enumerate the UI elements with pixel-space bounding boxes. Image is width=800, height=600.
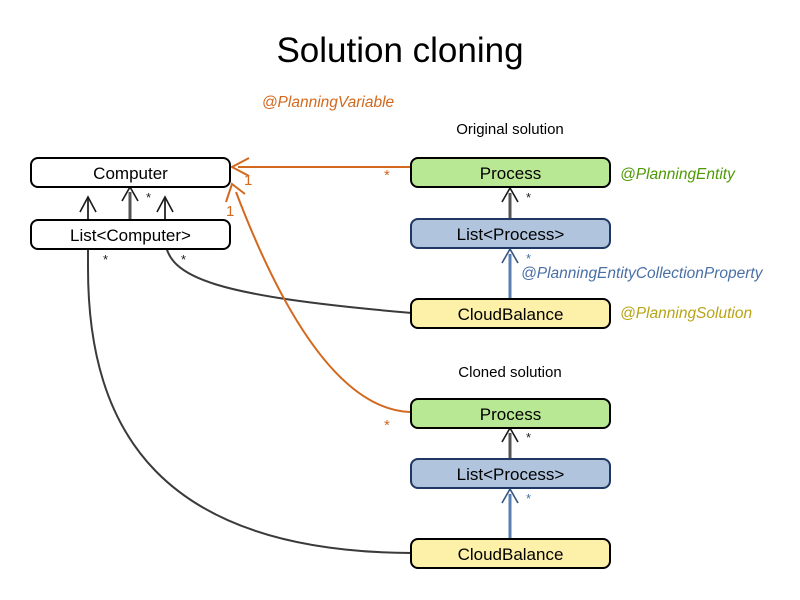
annotation-planning-entity-collection-property: @PlanningEntityCollectionProperty [521,265,764,282]
solution-cloning-diagram: Solution cloning @PlanningVariable Origi… [0,0,800,600]
node-cloned-process[interactable]: Process [411,399,610,428]
multiplicity-original-list-from-cloudbalance: * [526,251,531,266]
connector-cloned-cloudbalance-to-list-process [502,489,518,539]
node-list-computer-label: List<Computer> [70,226,191,245]
node-list-computer[interactable]: List<Computer> [31,220,230,249]
node-original-cloudbalance[interactable]: CloudBalance [411,299,610,328]
page-title: Solution cloning [276,31,523,70]
multiplicity-computer-from-list: * [146,190,151,205]
multiplicity-cloned-process-from-list: * [526,430,531,445]
annotation-planning-entity: @PlanningEntity [620,166,736,183]
multiplicity-list-computer-left: * [103,252,108,267]
connector-cloned-list-process-to-process [502,428,518,459]
connector-cloned-cloudbalance-to-list-computer [80,197,412,553]
node-computer[interactable]: Computer [31,158,230,187]
diagram-canvas: Solution cloning @PlanningVariable Origi… [0,0,800,600]
node-original-cloudbalance-label: CloudBalance [458,305,564,324]
node-original-process-label: Process [480,164,541,183]
connector-original-cloudbalance-to-list-process [502,249,518,299]
multiplicity-computer-one-top: 1 [244,172,252,189]
multiplicity-cloned-list-from-cloudbalance: * [526,491,531,506]
node-computer-label: Computer [93,164,168,183]
section-label-cloned: Cloned solution [458,364,561,381]
connector-line [88,198,412,553]
multiplicity-computer-one-bottom: 1 [226,203,234,220]
connector-line [165,198,412,313]
node-cloned-list-process-label: List<Process> [457,465,565,484]
connector-line [236,192,410,412]
multiplicity-cloned-process-to-computer: * [384,417,390,434]
connector-list-computer-to-computer [122,187,138,220]
node-cloned-cloudbalance[interactable]: CloudBalance [411,539,610,568]
node-original-process[interactable]: Process [411,158,610,187]
node-cloned-list-process[interactable]: List<Process> [411,459,610,488]
node-original-list-process[interactable]: List<Process> [411,219,610,248]
node-original-list-process-label: List<Process> [457,225,565,244]
annotation-planning-solution: @PlanningSolution [620,305,752,322]
multiplicity-original-process-to-computer: * [384,167,390,184]
multiplicity-list-computer-right: * [181,252,186,267]
connector-cloned-process-to-computer [226,184,410,412]
node-cloned-process-label: Process [480,405,541,424]
annotation-planning-variable: @PlanningVariable [262,94,395,111]
connector-original-list-process-to-process [502,188,518,219]
section-label-original: Original solution [456,121,564,138]
connector-original-cloudbalance-to-list-computer [157,197,412,313]
node-cloned-cloudbalance-label: CloudBalance [458,545,564,564]
multiplicity-original-process-from-list: * [526,190,531,205]
